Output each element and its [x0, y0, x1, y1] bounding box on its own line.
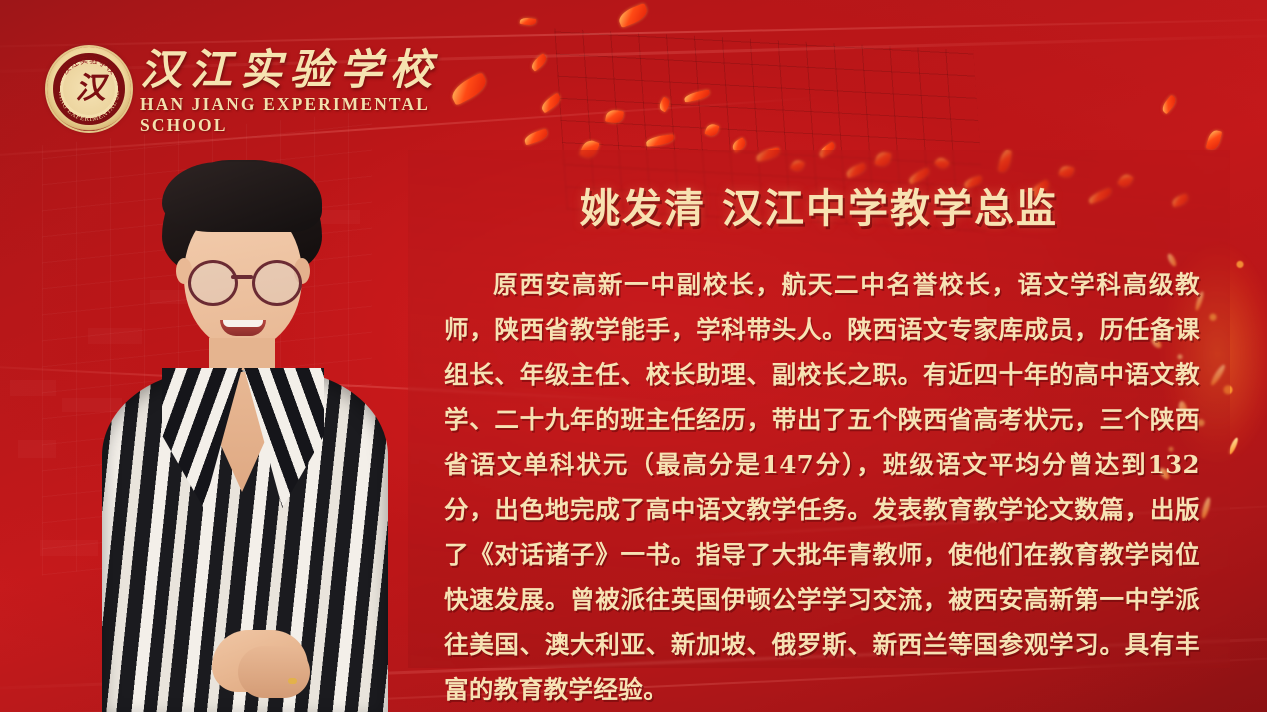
brand-lockup: 汉江实验学校 HAN JIANG EXPERIMENTAL SCHOOL [140, 48, 520, 136]
brand-name-cn: 汉江实验学校 [140, 48, 520, 92]
portrait-hand-overlap [238, 646, 310, 698]
brand-header: 汉 汉江实验学校 HAN JIANG EXPERIMENTAL SCHOOL 汉… [0, 0, 520, 150]
portrait-glasses-right [252, 260, 302, 306]
page-title: 姚发清 汉江中学教学总监 [408, 176, 1230, 234]
bio-panel: 姚发清 汉江中学教学总监 原西安高新一中副校长，航天二中名誉校长，语文学科高级教… [408, 150, 1230, 668]
portrait-glasses-left [188, 260, 238, 306]
portrait-photo [92, 160, 392, 712]
crest-glyph: 汉 [76, 74, 103, 104]
portrait-teeth [223, 320, 263, 327]
poster-canvas: 汉 汉江实验学校 HAN JIANG EXPERIMENTAL SCHOOL 汉… [0, 0, 1267, 712]
bio-text: 原西安高新一中副校长，航天二中名誉校长，语文学科高级教师，陕西省教学能手，学科带… [444, 262, 1200, 712]
school-crest-icon: 汉 汉江实验学校 HAN JIANG EXPERIMENTAL SCHOOL [47, 47, 131, 131]
crest-inner: 汉 [63, 63, 115, 115]
portrait-ring [288, 678, 297, 684]
portrait-glasses-bridge [231, 275, 253, 279]
portrait-fringe [162, 162, 322, 232]
brand-name-en: HAN JIANG EXPERIMENTAL SCHOOL [140, 94, 520, 136]
